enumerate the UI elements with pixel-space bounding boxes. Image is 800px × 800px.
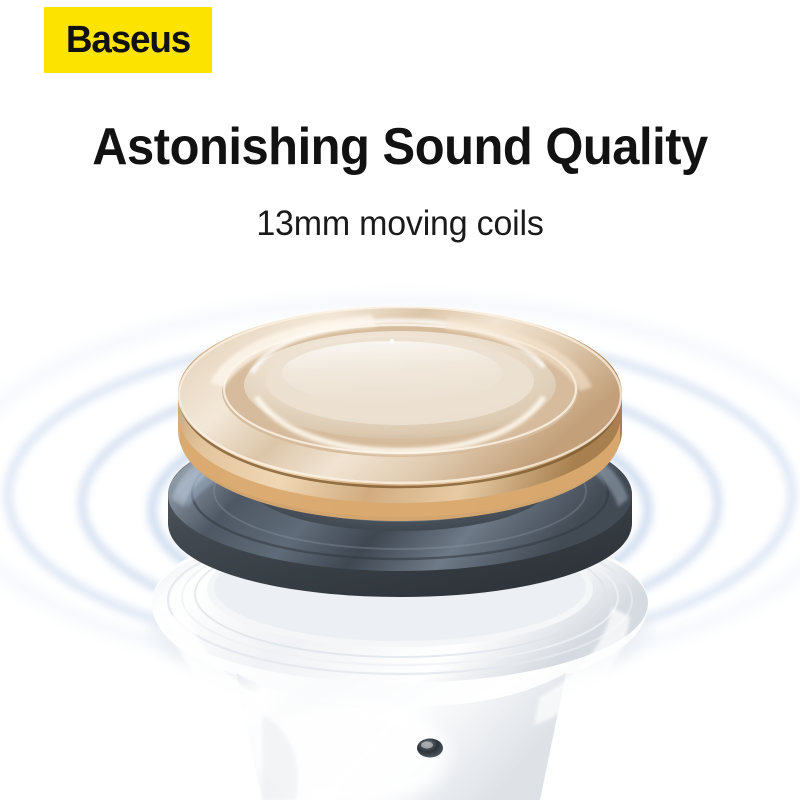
earbud-driver-illustration (0, 255, 800, 800)
acoustic-vent-highlight (421, 741, 433, 748)
page-subheadline: 13mm moving coils (12, 203, 788, 245)
page-headline: Astonishing Sound Quality (24, 118, 776, 176)
brand-logo-badge: Baseus (44, 7, 212, 73)
product-marketing-page: Baseus Astonishing Sound Quality 13mm mo… (0, 0, 800, 800)
product-image (0, 255, 800, 800)
gold-driver-ring (178, 307, 622, 521)
gold-sparkle (390, 339, 394, 343)
brand-logo-text: Baseus (66, 21, 190, 59)
dome-diaphragm-highlight (282, 341, 502, 405)
